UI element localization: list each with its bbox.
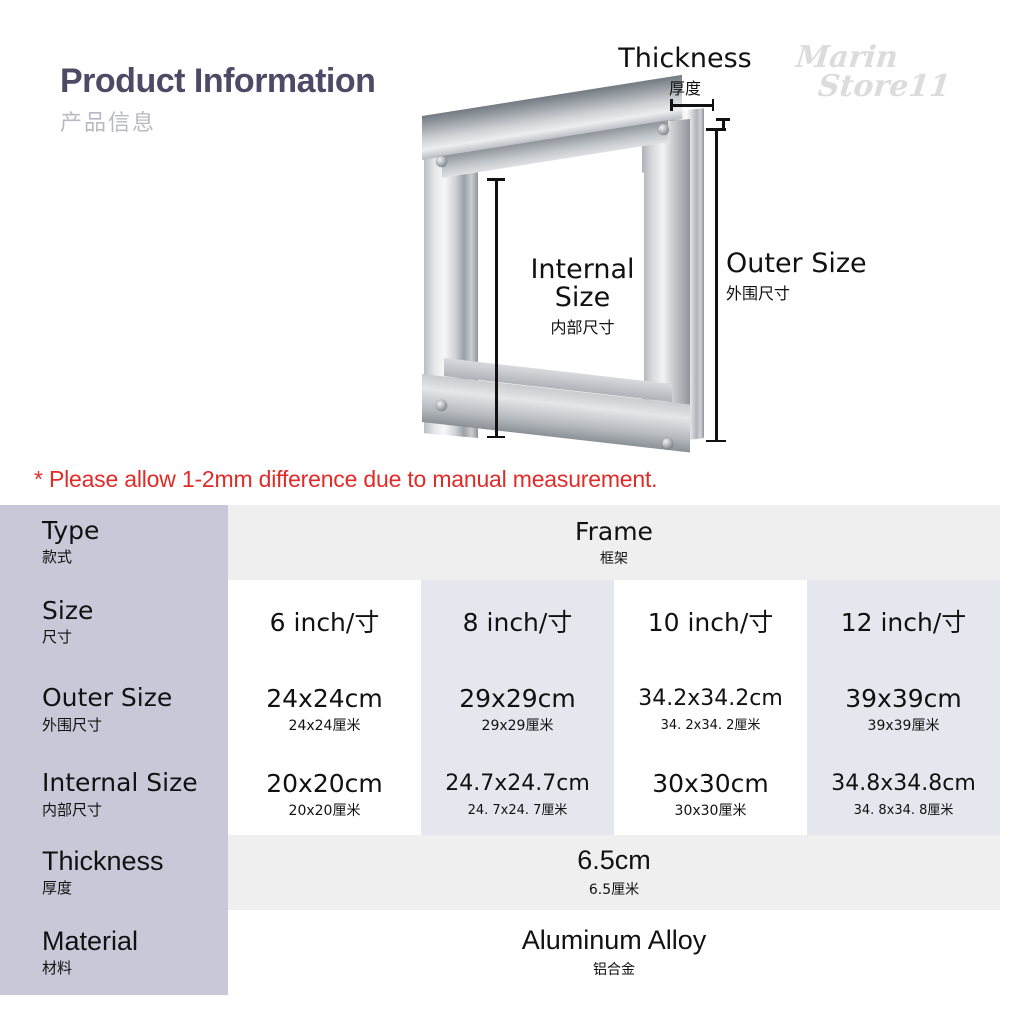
label-outer-size-en: Outer Size bbox=[726, 250, 916, 278]
cell-material-value-en: Aluminum Alloy bbox=[522, 926, 707, 955]
cell-size-6inch: 6 inch/寸 bbox=[228, 580, 421, 665]
row-label-size: Size 尺寸 bbox=[0, 580, 228, 665]
row-label-type-cn: 款式 bbox=[42, 546, 228, 567]
cell-outer-8inch-en: 29x29cm bbox=[459, 685, 576, 712]
screw-icon bbox=[436, 400, 447, 411]
cell-outer-12inch-en: 39x39cm bbox=[845, 685, 962, 712]
row-label-material-en: Material bbox=[42, 927, 228, 956]
measurement-disclaimer: * Please allow 1-2mm difference due to m… bbox=[34, 466, 657, 493]
cell-outer-10inch-cn: 34. 2x34. 2厘米 bbox=[661, 714, 761, 733]
cell-outer-12inch: 39x39cm 39x39厘米 bbox=[807, 665, 1000, 755]
cell-thickness-value-en: 6.5cm bbox=[577, 846, 651, 875]
cell-internal-8inch-en: 24.7x24.7cm bbox=[445, 772, 590, 796]
row-label-size-cn: 尺寸 bbox=[42, 626, 228, 647]
row-label-internal-size-en: Internal Size bbox=[42, 770, 228, 797]
cell-internal-10inch-cn: 30x30厘米 bbox=[675, 800, 747, 820]
row-label-outer-size-en: Outer Size bbox=[42, 685, 228, 712]
cell-outer-8inch-cn: 29x29厘米 bbox=[482, 715, 554, 735]
cell-outer-12inch-cn: 39x39厘米 bbox=[868, 715, 940, 735]
label-internal-size: Internal Size 内部尺寸 bbox=[505, 256, 660, 338]
row-label-internal-size: Internal Size 内部尺寸 bbox=[0, 755, 228, 835]
screw-icon bbox=[662, 438, 673, 449]
table-row-thickness: Thickness 厚度 6.5cm 6.5厘米 bbox=[0, 835, 1000, 910]
cell-outer-10inch: 34.2x34.2cm 34. 2x34. 2厘米 bbox=[614, 665, 807, 755]
cell-type-value-en: Frame bbox=[575, 518, 653, 545]
row-label-thickness-cn: 厚度 bbox=[42, 877, 228, 898]
label-internal-size-cn: 内部尺寸 bbox=[505, 314, 660, 338]
cell-size-8inch: 8 inch/寸 bbox=[421, 580, 614, 665]
table-row-outer-size: Outer Size 外围尺寸 24x24cm 24x24厘米 29x29cm … bbox=[0, 665, 1000, 755]
label-outer-size: Outer Size 外围尺寸 bbox=[726, 250, 916, 304]
cell-internal-8inch-cn: 24. 7x24. 7厘米 bbox=[468, 799, 568, 818]
table-row-size: Size 尺寸 6 inch/寸 8 inch/寸 10 inch/寸 12 i… bbox=[0, 580, 1000, 665]
cell-size-12inch: 12 inch/寸 bbox=[807, 580, 1000, 665]
cell-size-8inch-en: 8 inch/寸 bbox=[463, 609, 573, 636]
row-label-type-en: Type bbox=[42, 518, 228, 545]
row-label-material-cn: 材料 bbox=[42, 957, 228, 978]
cell-size-10inch: 10 inch/寸 bbox=[614, 580, 807, 665]
table-row-type: Type 款式 Frame 框架 bbox=[0, 505, 1000, 580]
cell-thickness-value-cn: 6.5厘米 bbox=[589, 879, 639, 899]
label-outer-size-cn: 外围尺寸 bbox=[726, 280, 916, 304]
specification-table: Type 款式 Frame 框架 Size 尺寸 6 inch/寸 8 inch… bbox=[0, 505, 1024, 995]
row-label-thickness: Thickness 厚度 bbox=[0, 835, 228, 910]
thickness-tick bbox=[716, 118, 730, 128]
cell-internal-10inch-en: 30x30cm bbox=[652, 770, 769, 797]
screw-icon bbox=[436, 156, 447, 167]
cell-internal-6inch-en: 20x20cm bbox=[266, 770, 383, 797]
label-thickness-en: Thickness bbox=[590, 45, 780, 73]
cell-internal-6inch-cn: 20x20厘米 bbox=[289, 800, 361, 820]
cell-outer-6inch-cn: 24x24厘米 bbox=[289, 715, 361, 735]
label-internal-size-en-line2: Size bbox=[505, 284, 660, 312]
row-label-type: Type 款式 bbox=[0, 505, 228, 580]
row-label-internal-size-cn: 内部尺寸 bbox=[42, 799, 228, 820]
cell-outer-6inch: 24x24cm 24x24厘米 bbox=[228, 665, 421, 755]
cell-size-12inch-en: 12 inch/寸 bbox=[841, 609, 967, 636]
cell-internal-12inch-cn: 34. 8x34. 8厘米 bbox=[854, 799, 954, 818]
screw-icon bbox=[658, 124, 669, 135]
thickness-measure-bracket bbox=[670, 99, 714, 111]
outer-size-measure-bracket bbox=[706, 128, 726, 442]
row-label-outer-size-cn: 外围尺寸 bbox=[42, 714, 228, 735]
cell-thickness-value: 6.5cm 6.5厘米 bbox=[228, 835, 1000, 910]
cell-internal-12inch-en: 34.8x34.8cm bbox=[831, 772, 976, 796]
internal-size-measure-bracket bbox=[487, 178, 505, 438]
cell-outer-10inch-en: 34.2x34.2cm bbox=[638, 687, 783, 711]
product-diagram: Thickness 厚度 Outer Size 外围尺寸 Internal Si… bbox=[0, 0, 1024, 500]
cell-type-value-cn: 框架 bbox=[600, 548, 628, 568]
row-label-material: Material 材料 bbox=[0, 910, 228, 995]
cell-size-10inch-en: 10 inch/寸 bbox=[648, 609, 774, 636]
label-internal-size-en-line1: Internal bbox=[505, 256, 660, 284]
cell-type-value: Frame 框架 bbox=[228, 505, 1000, 580]
cell-outer-8inch: 29x29cm 29x29厘米 bbox=[421, 665, 614, 755]
cell-internal-10inch: 30x30cm 30x30厘米 bbox=[614, 755, 807, 835]
row-label-outer-size: Outer Size 外围尺寸 bbox=[0, 665, 228, 755]
cell-size-6inch-en: 6 inch/寸 bbox=[270, 609, 380, 636]
cell-internal-8inch: 24.7x24.7cm 24. 7x24. 7厘米 bbox=[421, 755, 614, 835]
cell-internal-12inch: 34.8x34.8cm 34. 8x34. 8厘米 bbox=[807, 755, 1000, 835]
label-thickness-cn: 厚度 bbox=[590, 75, 780, 99]
cell-internal-6inch: 20x20cm 20x20厘米 bbox=[228, 755, 421, 835]
table-row-internal-size: Internal Size 内部尺寸 20x20cm 20x20厘米 24.7x… bbox=[0, 755, 1000, 835]
cell-material-value: Aluminum Alloy 铝合金 bbox=[228, 910, 1000, 995]
cell-outer-6inch-en: 24x24cm bbox=[266, 685, 383, 712]
cell-material-value-cn: 铝合金 bbox=[593, 959, 635, 979]
table-row-material: Material 材料 Aluminum Alloy 铝合金 bbox=[0, 910, 1000, 995]
row-label-thickness-en: Thickness bbox=[42, 847, 228, 876]
row-label-size-en: Size bbox=[42, 598, 228, 625]
label-thickness: Thickness 厚度 bbox=[590, 45, 780, 99]
